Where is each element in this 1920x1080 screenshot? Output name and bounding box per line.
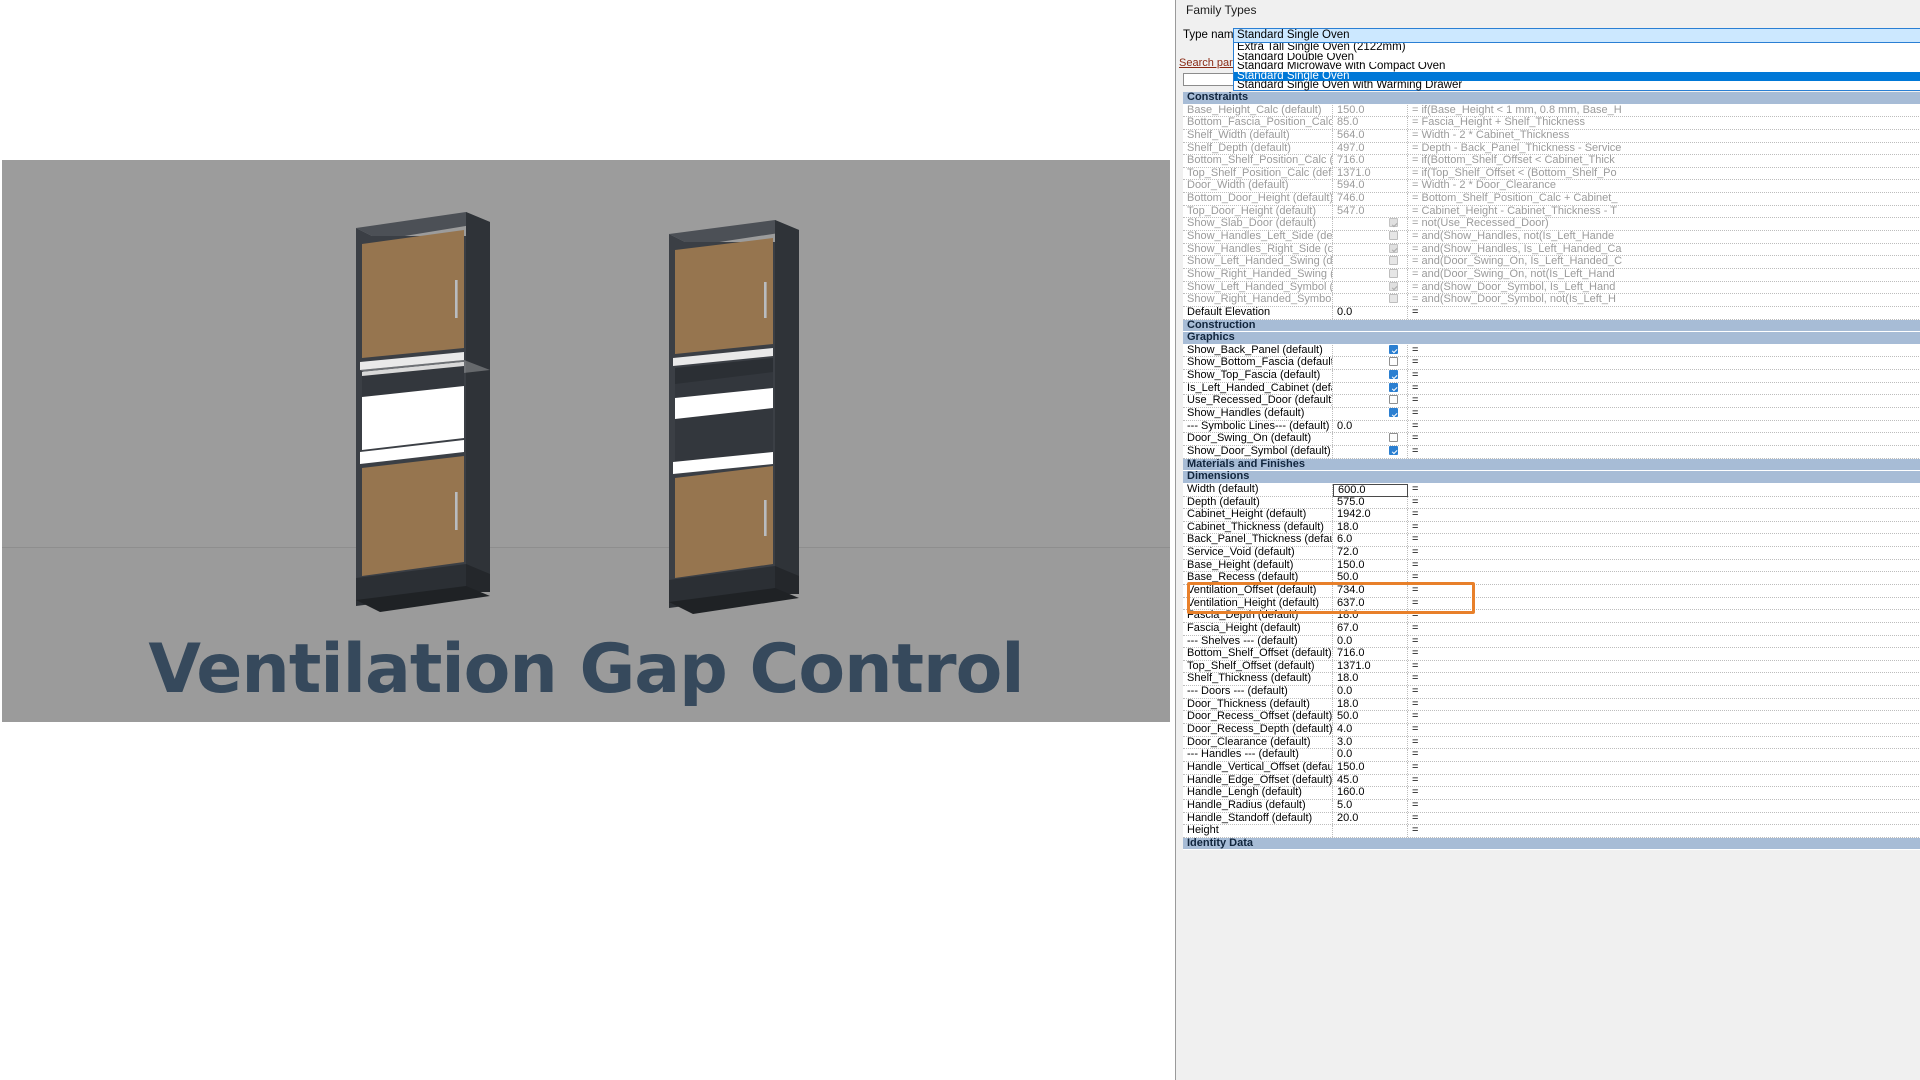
parameter-row[interactable]: Use_Recessed_Door (default)= xyxy=(1183,395,1920,408)
group-label: Graphics xyxy=(1183,332,1920,344)
parameter-value[interactable]: 1942.0 xyxy=(1333,509,1408,521)
parameter-value[interactable]: 18.0 xyxy=(1333,610,1408,622)
parameter-row[interactable]: Show_Back_Panel (default)= xyxy=(1183,345,1920,358)
parameter-formula[interactable]: = and(Show_Door_Symbol, not(Is_Left_H xyxy=(1408,294,1920,306)
parameter-name: Default Elevation xyxy=(1183,307,1333,319)
parameter-name: Handle_Standoff (default) xyxy=(1183,813,1333,825)
parameter-formula[interactable]: = xyxy=(1408,585,1920,597)
parameter-row[interactable]: Show_Bottom_Fascia (default)= xyxy=(1183,357,1920,370)
parameter-formula[interactable]: = xyxy=(1408,421,1920,433)
group-label: Dimensions xyxy=(1183,471,1920,483)
parameter-formula[interactable]: = xyxy=(1408,572,1920,584)
checkbox-icon[interactable] xyxy=(1389,345,1398,354)
parameter-group-header: Materials and Finishes xyxy=(1183,459,1920,472)
parameter-row[interactable]: Show_Handles (default)= xyxy=(1183,408,1920,421)
parameter-row[interactable]: Top_Shelf_Position_Calc (default)1371.0=… xyxy=(1183,168,1920,181)
parameter-formula[interactable]: = xyxy=(1408,610,1920,622)
parameter-row[interactable]: Shelf_Width (default)564.0= Width - 2 * … xyxy=(1183,130,1920,143)
parameter-name: Base_Height (default) xyxy=(1183,560,1333,572)
parameter-name: Fascia_Depth (default) xyxy=(1183,610,1333,622)
parameter-name: Bottom_Shelf_Offset (default) xyxy=(1183,648,1333,660)
parameter-row[interactable]: Handle_Radius (default)5.0= xyxy=(1183,800,1920,813)
parameter-value[interactable]: 3.0 xyxy=(1333,737,1408,749)
parameter-formula[interactable]: = xyxy=(1408,408,1920,420)
parameter-name: Bottom_Door_Height (default) xyxy=(1183,193,1333,205)
parameter-formula[interactable]: = xyxy=(1408,522,1920,534)
parameter-formula[interactable]: = Width - 2 * Door_Clearance xyxy=(1408,180,1920,192)
parameter-formula[interactable]: = xyxy=(1408,357,1920,369)
parameter-formula[interactable]: = xyxy=(1408,395,1920,407)
parameter-row[interactable]: Fascia_Depth (default)18.0= xyxy=(1183,610,1920,623)
parameter-row[interactable]: Width (default)600.0= xyxy=(1183,484,1920,497)
parameter-formula[interactable]: = and(Show_Door_Symbol, Is_Left_Hand xyxy=(1408,282,1920,294)
parameter-name: Door_Width (default) xyxy=(1183,180,1333,192)
checkbox-icon[interactable] xyxy=(1389,231,1398,240)
parameter-value[interactable]: 0.0 xyxy=(1333,307,1408,319)
checkbox-icon[interactable] xyxy=(1389,357,1398,366)
parameter-formula[interactable]: = Fascia_Height + Shelf_Thickness xyxy=(1408,117,1920,129)
parameter-name: Show_Left_Handed_Symbol (default) xyxy=(1183,282,1333,294)
type-name-row: Type name: Standard Single Oven xyxy=(1176,28,1920,44)
parameter-name: Ventilation_Offset (default) xyxy=(1183,585,1333,597)
parameter-name: Show_Slab_Door (default) xyxy=(1183,218,1333,230)
parameter-formula[interactable]: = if(Top_Shelf_Offset < (Bottom_Shelf_Po xyxy=(1408,168,1920,180)
parameter-name: Door_Swing_On (default) xyxy=(1183,433,1333,445)
parameter-checkbox-cell[interactable] xyxy=(1333,395,1408,407)
checkbox-icon[interactable] xyxy=(1389,383,1398,392)
parameter-value[interactable]: 637.0 xyxy=(1333,598,1408,610)
parameter-name: Base_Recess (default) xyxy=(1183,572,1333,584)
parameter-checkbox-cell[interactable] xyxy=(1333,218,1408,230)
parameter-formula[interactable]: = xyxy=(1408,307,1920,319)
parameter-value[interactable]: 0.0 xyxy=(1333,636,1408,648)
parameter-row[interactable]: Show_Handles_Right_Side (default)= and(S… xyxy=(1183,244,1920,257)
parameter-formula[interactable]: = xyxy=(1408,484,1920,496)
parameter-name: Top_Shelf_Position_Calc (default) xyxy=(1183,168,1333,180)
parameter-row[interactable]: Show_Right_Handed_Swing (default)= and(D… xyxy=(1183,269,1920,282)
parameter-name: Door_Clearance (default) xyxy=(1183,737,1333,749)
group-label: Constraints xyxy=(1183,92,1920,104)
parameter-formula[interactable]: = xyxy=(1408,800,1920,812)
parameter-name: Show_Right_Handed_Swing (default) xyxy=(1183,269,1333,281)
parameter-row[interactable]: Door_Recess_Depth (default)4.0= xyxy=(1183,724,1920,737)
parameter-name: Depth (default) xyxy=(1183,497,1333,509)
parameter-value[interactable]: 564.0 xyxy=(1333,130,1408,142)
parameter-value[interactable]: 67.0 xyxy=(1333,623,1408,635)
parameter-name: Ventilation_Height (default) xyxy=(1183,598,1333,610)
parameter-formula[interactable]: = and(Door_Swing_On, Is_Left_Handed_C xyxy=(1408,256,1920,268)
parameter-value[interactable]: 0.0 xyxy=(1333,686,1408,698)
parameter-checkbox-cell[interactable] xyxy=(1333,269,1408,281)
parameter-row[interactable]: --- Shelves --- (default)0.0= xyxy=(1183,636,1920,649)
checkbox-icon[interactable] xyxy=(1389,446,1398,455)
parameter-value[interactable]: 18.0 xyxy=(1333,699,1408,711)
parameter-formula[interactable]: = xyxy=(1408,724,1920,736)
parameter-row[interactable]: Ventilation_Height (default)637.0= xyxy=(1183,598,1920,611)
group-label: Identity Data xyxy=(1183,838,1920,850)
parameter-formula[interactable]: = xyxy=(1408,749,1920,761)
parameter-name: Handle_Radius (default) xyxy=(1183,800,1333,812)
parameter-value[interactable]: 72.0 xyxy=(1333,547,1408,559)
parameter-value[interactable]: 547.0 xyxy=(1333,206,1408,218)
floor-horizon-line xyxy=(2,547,1170,548)
parameter-formula[interactable]: = xyxy=(1408,762,1920,774)
parameter-name: Handle_Edge_Offset (default) xyxy=(1183,775,1333,787)
parameter-value[interactable]: 1371.0 xyxy=(1333,661,1408,673)
parameter-formula[interactable]: = xyxy=(1408,787,1920,799)
type-name-combobox[interactable]: Standard Single Oven xyxy=(1233,28,1920,43)
parameter-formula[interactable]: = and(Door_Swing_On, not(Is_Left_Hand xyxy=(1408,269,1920,281)
type-name-dropdown-list[interactable]: Extra Tall Single Oven (2122mm)Standard … xyxy=(1233,43,1920,91)
checkbox-icon[interactable] xyxy=(1389,218,1398,227)
parameter-value[interactable]: 20.0 xyxy=(1333,813,1408,825)
parameter-name: Handle_Lengh (default) xyxy=(1183,787,1333,799)
parameter-name: Width (default) xyxy=(1183,484,1333,496)
parameter-row[interactable]: Door_Clearance (default)3.0= xyxy=(1183,737,1920,750)
parameter-value[interactable]: 746.0 xyxy=(1333,193,1408,205)
parameter-group-header: Dimensions xyxy=(1183,471,1920,484)
parameter-row[interactable]: Door_Width (default)594.0= Width - 2 * D… xyxy=(1183,180,1920,193)
parameter-name: Bottom_Fascia_Position_Calc (default) xyxy=(1183,117,1333,129)
parameter-row[interactable]: Fascia_Height (default)67.0= xyxy=(1183,623,1920,636)
parameter-formula[interactable]: = xyxy=(1408,737,1920,749)
parameter-group-header: Identity Data xyxy=(1183,838,1920,851)
parameter-formula[interactable]: = xyxy=(1408,509,1920,521)
parameter-row[interactable]: Show_Left_Handed_Symbol (default)= and(S… xyxy=(1183,282,1920,295)
parameter-name: Show_Handles_Right_Side (default) xyxy=(1183,244,1333,256)
parameter-value[interactable]: 150.0 xyxy=(1333,762,1408,774)
parameter-value[interactable]: 594.0 xyxy=(1333,180,1408,192)
parameter-checkbox-cell[interactable] xyxy=(1333,408,1408,420)
parameter-name: Show_Back_Panel (default) xyxy=(1183,345,1333,357)
parameter-row[interactable]: Handle_Lengh (default)160.0= xyxy=(1183,787,1920,800)
parameter-row[interactable]: Bottom_Fascia_Position_Calc (default)85.… xyxy=(1183,117,1920,130)
parameter-formula[interactable]: = and(Show_Handles, Is_Left_Handed_Ca xyxy=(1408,244,1920,256)
parameter-name: Show_Door_Symbol (default) xyxy=(1183,446,1333,458)
parameter-row[interactable]: Bottom_Shelf_Offset (default)716.0= xyxy=(1183,648,1920,661)
parameter-name: Shelf_Width (default) xyxy=(1183,130,1333,142)
parameter-row[interactable]: Door_Swing_On (default)= xyxy=(1183,433,1920,446)
parameter-name: Show_Left_Handed_Swing (default) xyxy=(1183,256,1333,268)
parameter-checkbox-cell[interactable] xyxy=(1333,433,1408,445)
parameter-name: Height xyxy=(1183,825,1333,837)
parameter-row[interactable]: Depth (default)575.0= xyxy=(1183,497,1920,510)
parameter-checkbox-cell[interactable] xyxy=(1333,244,1408,256)
parameter-checkbox-cell[interactable] xyxy=(1333,345,1408,357)
parameter-name: --- Symbolic Lines--- (default) xyxy=(1183,421,1333,433)
parameter-name: Door_Recess_Offset (default) xyxy=(1183,711,1333,723)
group-label: Construction xyxy=(1183,320,1920,332)
parameter-formula[interactable]: = xyxy=(1408,383,1920,395)
parameter-name: Show_Bottom_Fascia (default) xyxy=(1183,357,1333,369)
checkbox-icon[interactable] xyxy=(1389,370,1398,379)
parameter-value[interactable]: 85.0 xyxy=(1333,117,1408,129)
parameter-group-header: Graphics xyxy=(1183,332,1920,345)
parameter-formula[interactable]: = and(Show_Handles, not(Is_Left_Hande xyxy=(1408,231,1920,243)
parameter-row[interactable]: Door_Recess_Offset (default)50.0= xyxy=(1183,711,1920,724)
parameter-name: Base_Height_Calc (default) xyxy=(1183,105,1333,117)
parameter-formula[interactable]: = xyxy=(1408,497,1920,509)
parameter-row[interactable]: Door_Thickness (default)18.0= xyxy=(1183,699,1920,712)
parameter-checkbox-cell[interactable] xyxy=(1333,231,1408,243)
parameter-name: Use_Recessed_Door (default) xyxy=(1183,395,1333,407)
parameter-table[interactable]: ConstraintsBase_Height_Calc (default)150… xyxy=(1183,92,1920,850)
parameter-group-header: Construction xyxy=(1183,320,1920,333)
parameter-row[interactable]: Show_Left_Handed_Swing (default)= and(Do… xyxy=(1183,256,1920,269)
parameter-name: Shelf_Depth (default) xyxy=(1183,143,1333,155)
parameter-formula[interactable]: = xyxy=(1408,711,1920,723)
dropdown-item[interactable]: Standard Single Oven with Warming Drawer xyxy=(1234,81,1920,91)
parameter-value[interactable]: 716.0 xyxy=(1333,648,1408,660)
parameter-formula[interactable]: = if(Base_Height < 1 mm, 0.8 mm, Base_H xyxy=(1408,105,1920,117)
parameter-name: Cabinet_Height (default) xyxy=(1183,509,1333,521)
parameter-name: Is_Left_Handed_Cabinet (default) xyxy=(1183,383,1333,395)
parameter-row[interactable]: Handle_Edge_Offset (default)45.0= xyxy=(1183,775,1920,788)
parameter-formula[interactable]: = xyxy=(1408,661,1920,673)
parameter-name: Shelf_Thickness (default) xyxy=(1183,673,1333,685)
parameter-row[interactable]: Is_Left_Handed_Cabinet (default)= xyxy=(1183,383,1920,396)
checkbox-icon[interactable] xyxy=(1389,282,1398,291)
parameter-row[interactable]: --- Doors --- (default)0.0= xyxy=(1183,686,1920,699)
parameter-formula[interactable]: = xyxy=(1408,673,1920,685)
parameter-row[interactable]: Show_Handles_Left_Side (default)= and(Sh… xyxy=(1183,231,1920,244)
parameter-row[interactable]: Back_Panel_Thickness (default)6.0= xyxy=(1183,534,1920,547)
parameter-row[interactable]: Top_Shelf_Offset (default)1371.0= xyxy=(1183,661,1920,674)
parameter-row[interactable]: Cabinet_Height (default)1942.0= xyxy=(1183,509,1920,522)
parameter-row[interactable]: Base_Height_Calc (default)150.0= if(Base… xyxy=(1183,105,1920,118)
parameter-value[interactable] xyxy=(1333,825,1408,837)
parameter-formula[interactable]: = xyxy=(1408,623,1920,635)
parameter-formula[interactable]: = xyxy=(1408,699,1920,711)
parameter-formula[interactable]: = Width - 2 * Cabinet_Thickness xyxy=(1408,130,1920,142)
parameter-name: --- Shelves --- (default) xyxy=(1183,636,1333,648)
parameter-value[interactable]: 1371.0 xyxy=(1333,168,1408,180)
parameter-name: Show_Top_Fascia (default) xyxy=(1183,370,1333,382)
parameter-value[interactable]: 716.0 xyxy=(1333,155,1408,167)
parameter-name: --- Handles --- (default) xyxy=(1183,749,1333,761)
parameter-value[interactable]: 5.0 xyxy=(1333,800,1408,812)
parameter-row[interactable]: Show_Door_Symbol (default)= xyxy=(1183,446,1920,459)
parameter-formula[interactable]: = xyxy=(1408,547,1920,559)
parameter-row[interactable]: Handle_Vertical_Offset (default)150.0= xyxy=(1183,762,1920,775)
parameter-formula[interactable]: = not(Use_Recessed_Door) xyxy=(1408,218,1920,230)
parameter-name: Cabinet_Thickness (default) xyxy=(1183,522,1333,534)
parameter-row[interactable]: Service_Void (default)72.0= xyxy=(1183,547,1920,560)
parameter-formula[interactable]: = xyxy=(1408,636,1920,648)
oven-cabinet-left xyxy=(340,200,500,620)
dropdown-item[interactable]: Standard Double Oven xyxy=(1234,53,1920,63)
parameter-value[interactable]: 4.0 xyxy=(1333,724,1408,736)
parameter-row[interactable]: Show_Slab_Door (default)= not(Use_Recess… xyxy=(1183,218,1920,231)
family-types-dialog: Family Types Type name: Standard Single … xyxy=(1175,0,1920,1080)
parameter-row[interactable]: Ventilation_Offset (default)734.0= xyxy=(1183,585,1920,598)
parameter-checkbox-cell[interactable] xyxy=(1333,446,1408,458)
parameter-formula[interactable]: = xyxy=(1408,370,1920,382)
parameter-row[interactable]: Show_Top_Fascia (default)= xyxy=(1183,370,1920,383)
parameter-name: Top_Door_Height (default) xyxy=(1183,206,1333,218)
checkbox-icon[interactable] xyxy=(1389,408,1398,417)
parameter-formula[interactable]: = xyxy=(1408,598,1920,610)
parameter-formula[interactable]: = xyxy=(1408,775,1920,787)
checkbox-icon[interactable] xyxy=(1389,433,1398,442)
parameter-formula[interactable]: = Cabinet_Height - Cabinet_Thickness - T xyxy=(1408,206,1920,218)
parameter-row[interactable]: Height= xyxy=(1183,825,1920,838)
parameter-name: Bottom_Shelf_Position_Calc (default) xyxy=(1183,155,1333,167)
parameter-row[interactable]: Shelf_Thickness (default)18.0= xyxy=(1183,673,1920,686)
dropdown-item[interactable]: Standard Single Oven xyxy=(1234,72,1920,82)
parameter-row[interactable]: Base_Recess (default)50.0= xyxy=(1183,572,1920,585)
parameter-value[interactable]: 575.0 xyxy=(1333,497,1408,509)
parameter-value[interactable]: 734.0 xyxy=(1333,585,1408,597)
parameter-row[interactable]: Default Elevation0.0= xyxy=(1183,307,1920,320)
parameter-name: --- Doors --- (default) xyxy=(1183,686,1333,698)
parameter-value[interactable]: 150.0 xyxy=(1333,560,1408,572)
parameter-formula[interactable]: = xyxy=(1408,534,1920,546)
checkbox-icon[interactable] xyxy=(1389,294,1398,303)
parameter-name: Handle_Vertical_Offset (default) xyxy=(1183,762,1333,774)
parameter-value[interactable]: 150.0 xyxy=(1333,105,1408,117)
parameter-name: Show_Handles (default) xyxy=(1183,408,1333,420)
dropdown-item[interactable]: Extra Tall Single Oven (2122mm) xyxy=(1234,43,1920,53)
group-label: Materials and Finishes xyxy=(1183,459,1920,471)
parameter-group-header: Constraints xyxy=(1183,92,1920,105)
parameter-formula[interactable]: = xyxy=(1408,686,1920,698)
checkbox-icon[interactable] xyxy=(1389,395,1398,404)
parameter-checkbox-cell[interactable] xyxy=(1333,370,1408,382)
parameter-value[interactable]: 0.0 xyxy=(1333,421,1408,433)
3d-viewport[interactable]: Ventilation Gap Control xyxy=(0,0,1175,1080)
parameter-value[interactable]: 18.0 xyxy=(1333,522,1408,534)
parameter-row[interactable]: Shelf_Depth (default)497.0= Depth - Back… xyxy=(1183,143,1920,156)
parameter-checkbox-cell[interactable] xyxy=(1333,357,1408,369)
parameter-checkbox-cell[interactable] xyxy=(1333,294,1408,306)
screenshot-root: Ventilation Gap Control Family Types Typ… xyxy=(0,0,1920,1080)
checkbox-icon[interactable] xyxy=(1389,269,1398,278)
parameter-name: Service_Void (default) xyxy=(1183,547,1333,559)
parameter-name: Show_Handles_Left_Side (default) xyxy=(1183,231,1333,243)
parameter-row[interactable]: Top_Door_Height (default)547.0= Cabinet_… xyxy=(1183,206,1920,219)
oven-cabinet-right xyxy=(655,212,810,622)
parameter-row[interactable]: Show_Right_Handed_Symbol (default)= and(… xyxy=(1183,294,1920,307)
parameter-formula[interactable]: = xyxy=(1408,446,1920,458)
dialog-title: Family Types xyxy=(1186,3,1256,17)
parameter-name: Show_Right_Handed_Symbol (default) xyxy=(1183,294,1333,306)
parameter-row[interactable]: --- Handles --- (default)0.0= xyxy=(1183,749,1920,762)
parameter-row[interactable]: Cabinet_Thickness (default)18.0= xyxy=(1183,522,1920,535)
parameter-value[interactable]: 18.0 xyxy=(1333,673,1408,685)
parameter-row[interactable]: Bottom_Shelf_Position_Calc (default)716.… xyxy=(1183,155,1920,168)
parameter-name: Top_Shelf_Offset (default) xyxy=(1183,661,1333,673)
dropdown-item[interactable]: Standard Microwave with Compact Oven xyxy=(1234,62,1920,72)
parameter-formula[interactable]: = Depth - Back_Panel_Thickness - Service xyxy=(1408,143,1920,155)
parameter-value[interactable]: 50.0 xyxy=(1333,711,1408,723)
parameter-checkbox-cell[interactable] xyxy=(1333,282,1408,294)
parameter-row[interactable]: --- Symbolic Lines--- (default)0.0= xyxy=(1183,421,1920,434)
parameter-formula[interactable]: = Bottom_Shelf_Position_Calc + Cabinet_ xyxy=(1408,193,1920,205)
parameter-value[interactable]: 600.0 xyxy=(1333,484,1408,497)
parameter-value[interactable]: 50.0 xyxy=(1333,572,1408,584)
parameter-formula[interactable]: = xyxy=(1408,813,1920,825)
parameter-formula[interactable]: = xyxy=(1408,560,1920,572)
parameter-formula[interactable]: = xyxy=(1408,648,1920,660)
parameter-value[interactable]: 6.0 xyxy=(1333,534,1408,546)
parameter-formula[interactable]: = xyxy=(1408,825,1920,837)
parameter-name: Door_Recess_Depth (default) xyxy=(1183,724,1333,736)
parameter-formula[interactable]: = xyxy=(1408,345,1920,357)
parameter-name: Back_Panel_Thickness (default) xyxy=(1183,534,1333,546)
parameter-row[interactable]: Bottom_Door_Height (default)746.0= Botto… xyxy=(1183,193,1920,206)
checkbox-icon[interactable] xyxy=(1389,244,1398,253)
parameter-name: Door_Thickness (default) xyxy=(1183,699,1333,711)
parameter-name: Fascia_Height (default) xyxy=(1183,623,1333,635)
parameter-row[interactable]: Handle_Standoff (default)20.0= xyxy=(1183,813,1920,826)
parameter-formula[interactable]: = xyxy=(1408,433,1920,445)
parameter-row[interactable]: Base_Height (default)150.0= xyxy=(1183,560,1920,573)
parameter-value[interactable]: 45.0 xyxy=(1333,775,1408,787)
page-title: Ventilation Gap Control xyxy=(0,630,1172,710)
parameter-checkbox-cell[interactable] xyxy=(1333,383,1408,395)
checkbox-icon[interactable] xyxy=(1389,256,1398,265)
parameter-checkbox-cell[interactable] xyxy=(1333,256,1408,268)
parameter-value[interactable]: 0.0 xyxy=(1333,749,1408,761)
parameter-formula[interactable]: = if(Bottom_Shelf_Offset < Cabinet_Thick xyxy=(1408,155,1920,167)
parameter-value[interactable]: 160.0 xyxy=(1333,787,1408,799)
parameter-value[interactable]: 497.0 xyxy=(1333,143,1408,155)
